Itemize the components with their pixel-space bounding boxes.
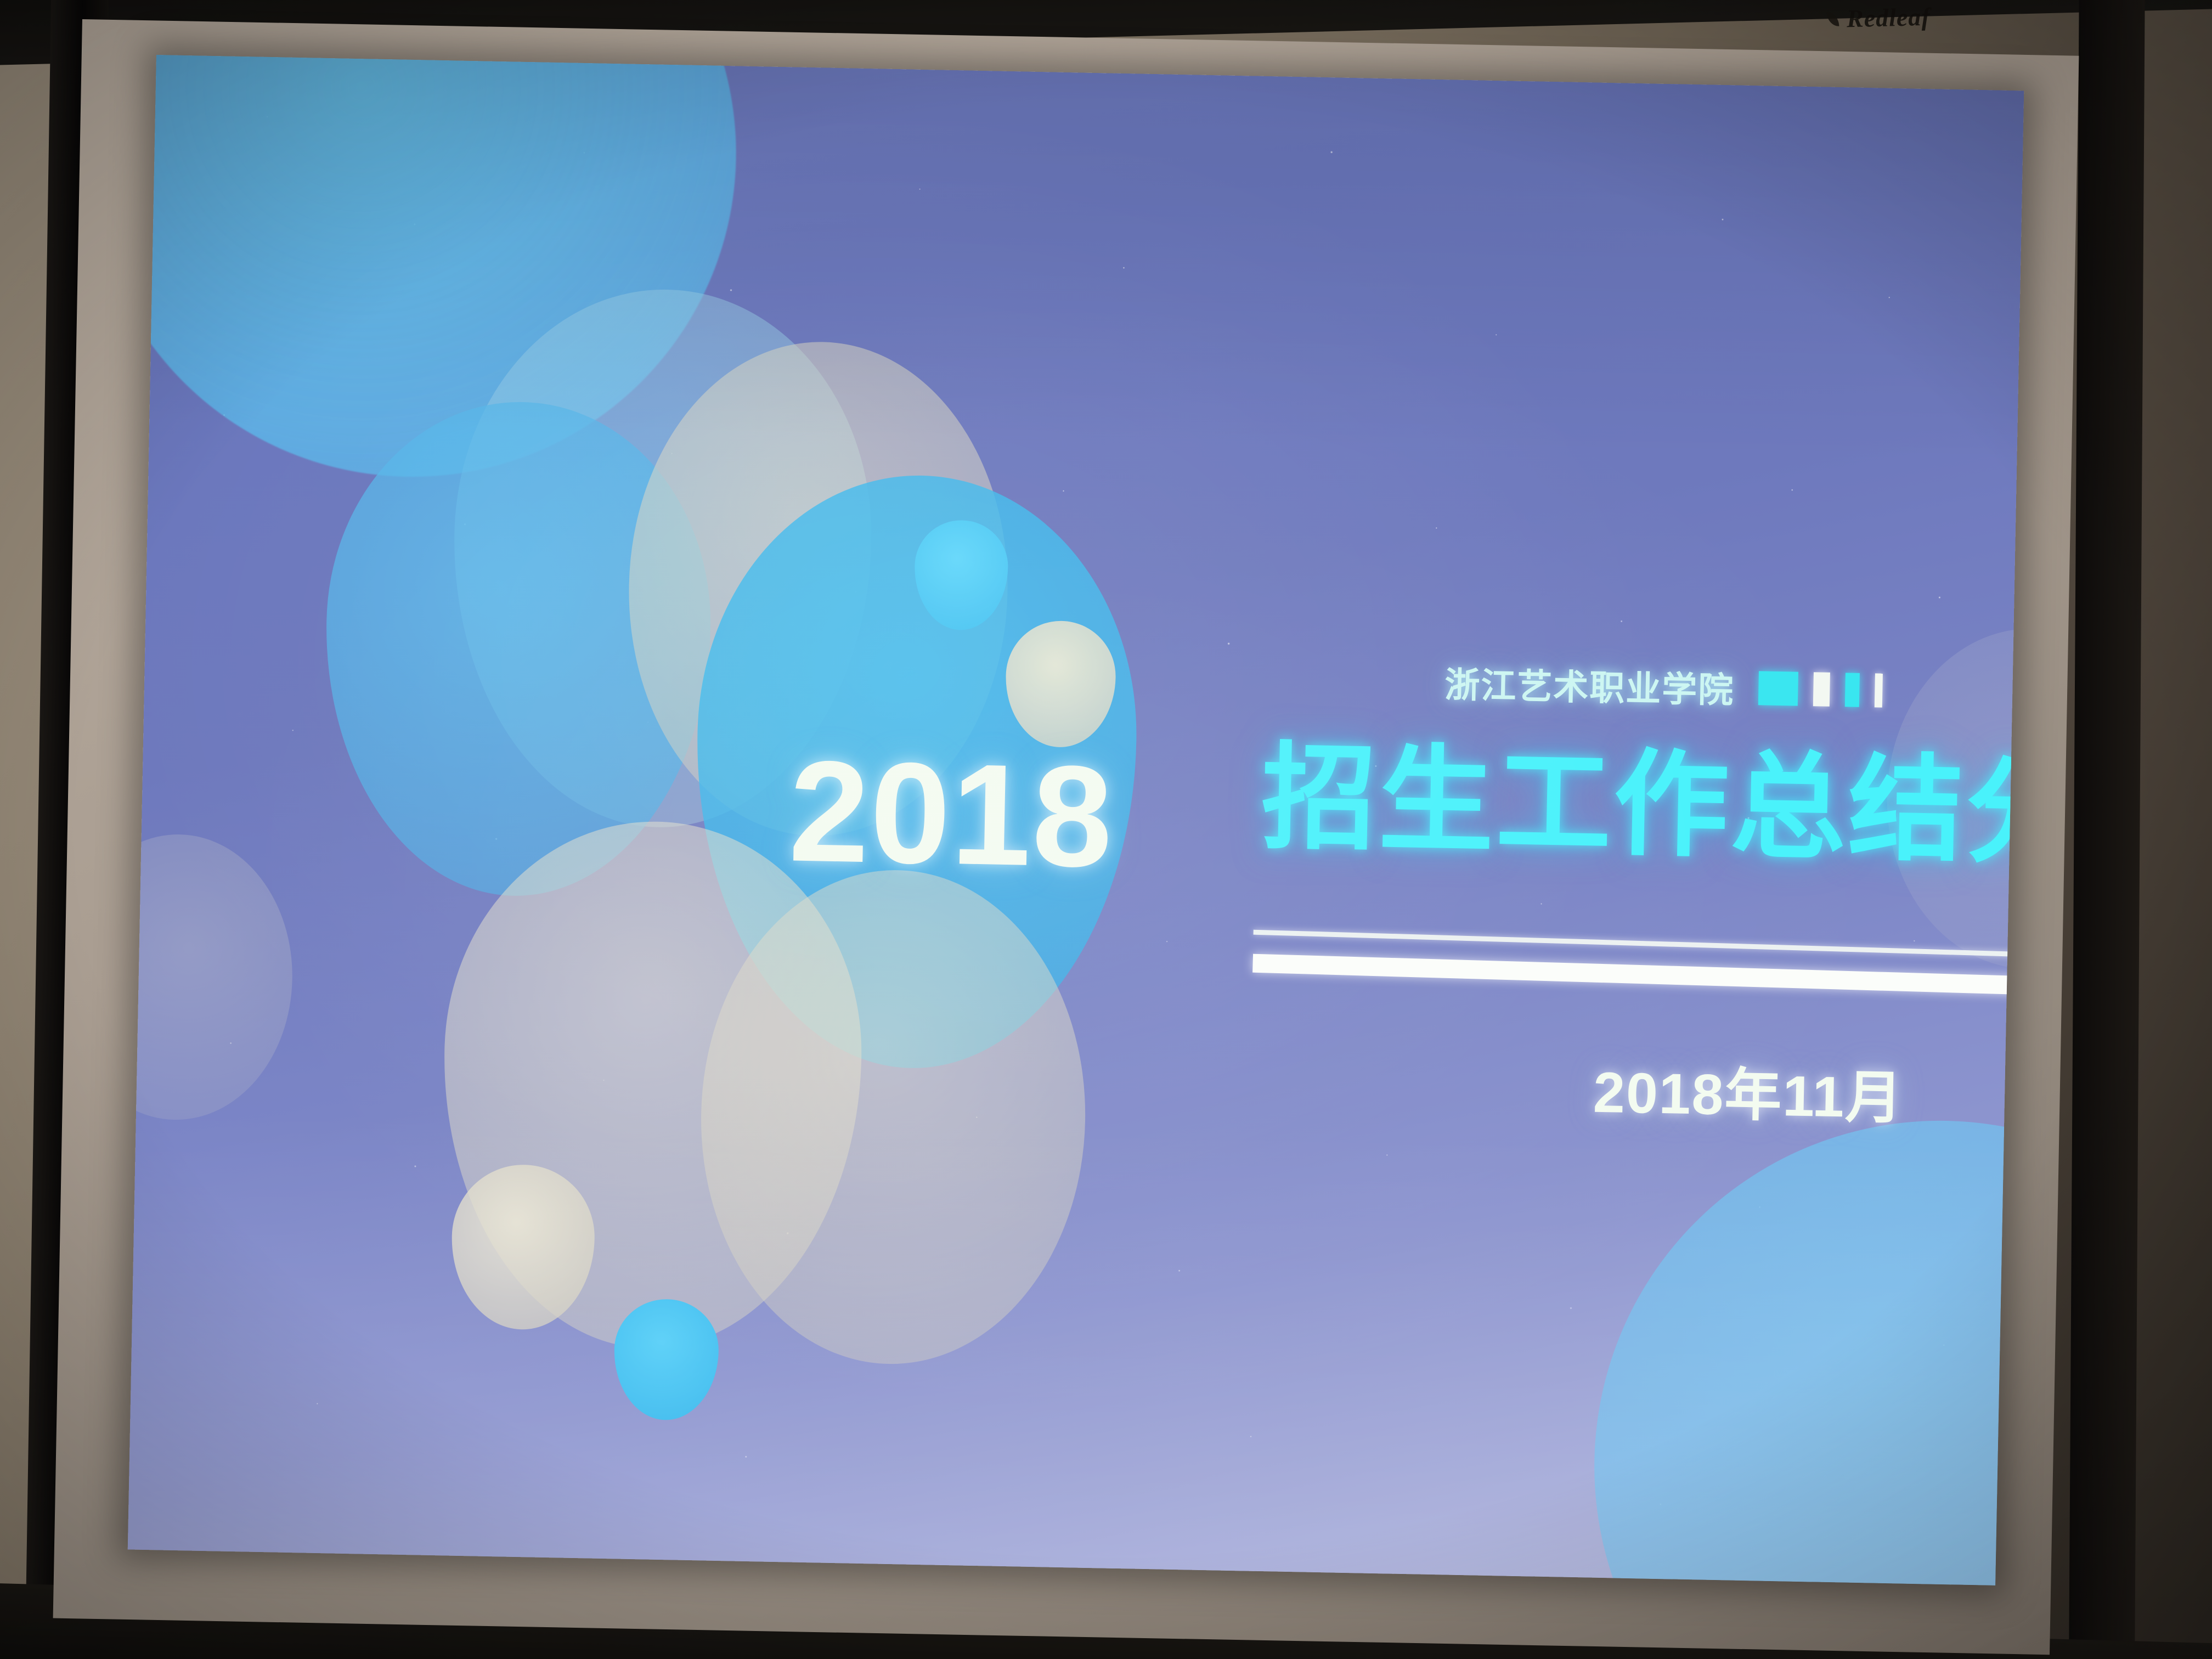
slide-year-numeral: 2018 <box>788 739 1115 889</box>
bar-wide-cyan-icon <box>1758 671 1798 706</box>
leaf-icon <box>1827 12 1839 26</box>
organization-row: 浙江艺术职业学院 <box>1444 657 1883 715</box>
brand-name-label: Redleaf <box>1846 2 1931 33</box>
title-divider-thick <box>1252 954 2024 1000</box>
organization-name: 浙江艺术职业学院 <box>1444 657 1735 713</box>
bar-narrow-cyan-icon <box>1845 673 1860 707</box>
screen-frame-right <box>2068 0 2145 1659</box>
slide-background: 2018 浙江艺术职业学院 招生工作总结分析 2018年11月 <box>128 55 2024 1585</box>
projector-room-photo: Redleaf 2018 浙江艺术职业学院 <box>0 0 2212 1659</box>
projected-slide-area: 2018 浙江艺术职业学院 招生工作总结分析 2018年11月 <box>128 55 2024 1585</box>
slide-content: 2018 浙江艺术职业学院 招生工作总结分析 2018年11月 <box>128 55 2024 1585</box>
bar-thin-white-icon <box>1875 673 1883 707</box>
slide-main-title: 招生工作总结分析 <box>1260 737 2024 876</box>
projector-brand: Redleaf <box>1826 2 1931 34</box>
bar-narrow-white-icon <box>1813 672 1830 707</box>
decorative-bars <box>1758 671 1883 707</box>
slide-date: 2018年11月 <box>1593 1046 1904 1135</box>
